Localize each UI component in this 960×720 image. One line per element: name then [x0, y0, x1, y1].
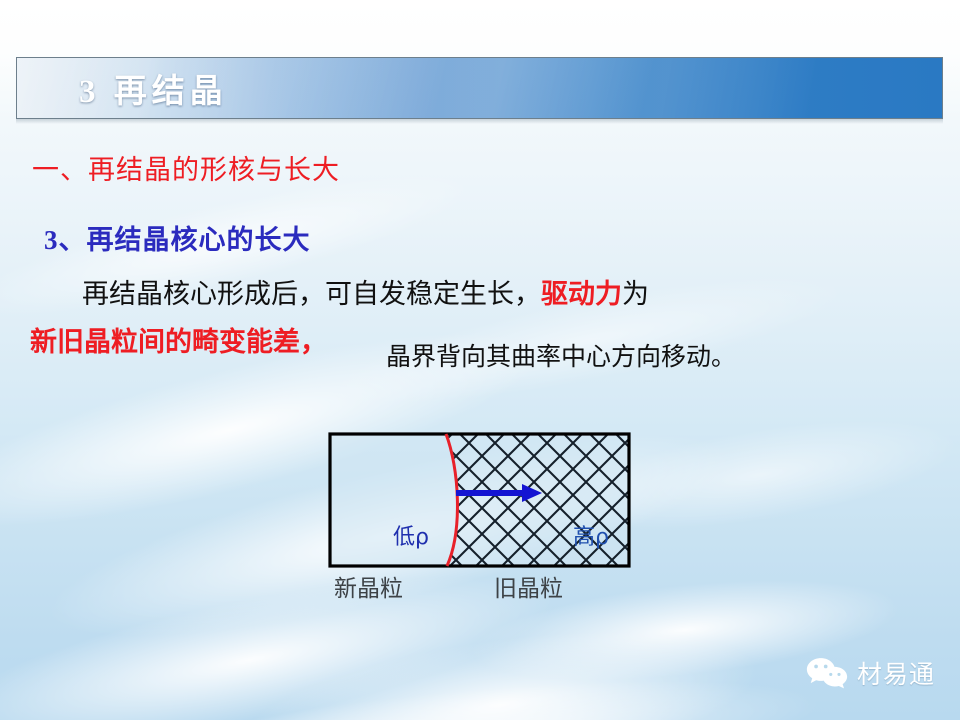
grain-growth-diagram: 低ρ 高ρ 新晶粒 旧晶粒 [326, 430, 636, 600]
body-text-line-2: 新旧晶粒间的畸变能差， [30, 320, 327, 359]
label-high-density: 高ρ [573, 519, 609, 551]
page-title: 3 再结晶 [79, 64, 228, 112]
title-banner: 3 再结晶 [16, 57, 943, 119]
wechat-icon [806, 656, 848, 690]
section-heading-secondary: 3、再结晶核心的长大 [44, 218, 311, 257]
body-text-segment: 为 [622, 279, 649, 309]
body-text-line-1: 再结晶核心形成后，可自发稳定生长，驱动力为 [82, 272, 649, 311]
banner-shadow [16, 119, 943, 124]
section-heading-primary: 一、再结晶的形核与长大 [32, 148, 340, 187]
body-text-line-3: 晶界背向其曲率中心方向移动。 [386, 337, 736, 373]
label-low-density: 低ρ [393, 519, 429, 551]
slide-canvas: 3 再结晶 一、再结晶的形核与长大 3、再结晶核心的长大 再结晶核心形成后，可自… [0, 0, 960, 720]
label-old-grain: 旧晶粒 [494, 569, 563, 603]
body-text-highlight: 驱动力 [541, 279, 622, 309]
label-new-grain: 新晶粒 [334, 569, 403, 603]
body-text-segment: 再结晶核心形成后，可自发稳定生长， [82, 279, 541, 309]
watermark: 材易通 [806, 655, 935, 691]
watermark-label: 材易通 [857, 655, 935, 691]
